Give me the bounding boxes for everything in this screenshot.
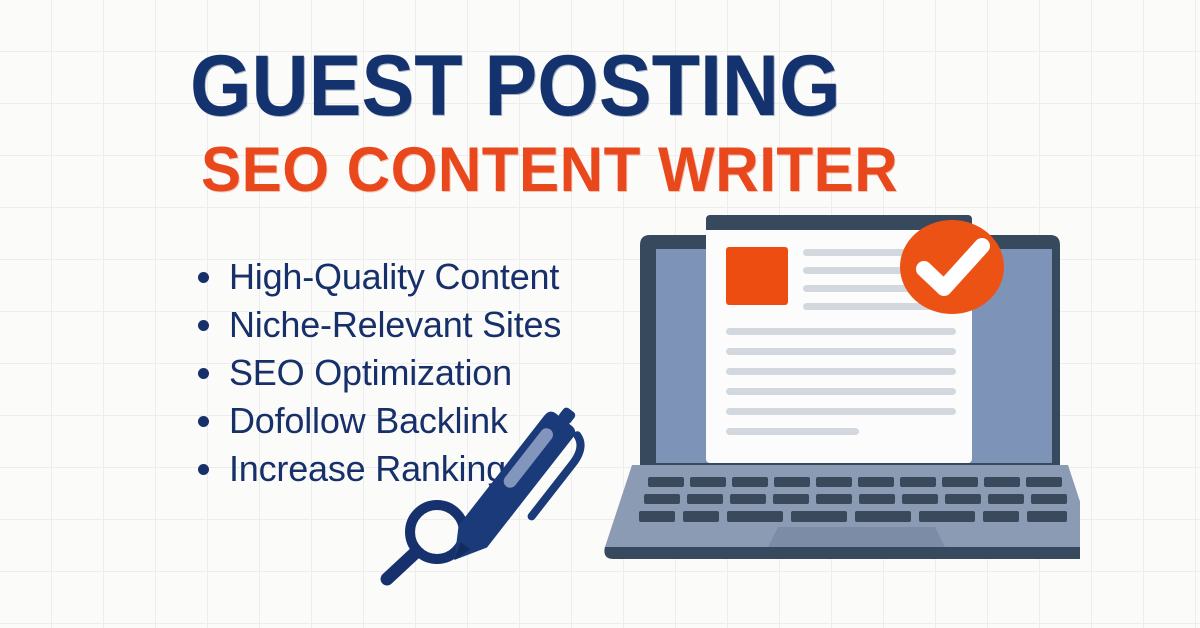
laptop-front-edge — [604, 547, 1080, 559]
laptop-illustration — [604, 215, 1080, 559]
bullet-dot-icon — [198, 320, 209, 331]
bullet-dot-icon — [198, 272, 209, 283]
bullet-dot-icon — [198, 368, 209, 379]
poster-canvas: GUEST POSTING SEO CONTENT WRITER High-Qu… — [0, 0, 1200, 628]
document-thumbnail — [726, 247, 788, 305]
page-title: GUEST POSTING — [190, 44, 935, 128]
bullet-dot-icon — [198, 416, 209, 427]
page-subtitle: SEO CONTENT WRITER — [201, 139, 965, 201]
checkmark-badge-icon — [900, 220, 1004, 314]
illustration-group — [360, 215, 1080, 615]
magnifying-glass-icon — [387, 505, 464, 579]
trackpad — [768, 527, 945, 547]
pen-icon — [440, 399, 598, 581]
bullet-dot-icon — [198, 464, 209, 475]
